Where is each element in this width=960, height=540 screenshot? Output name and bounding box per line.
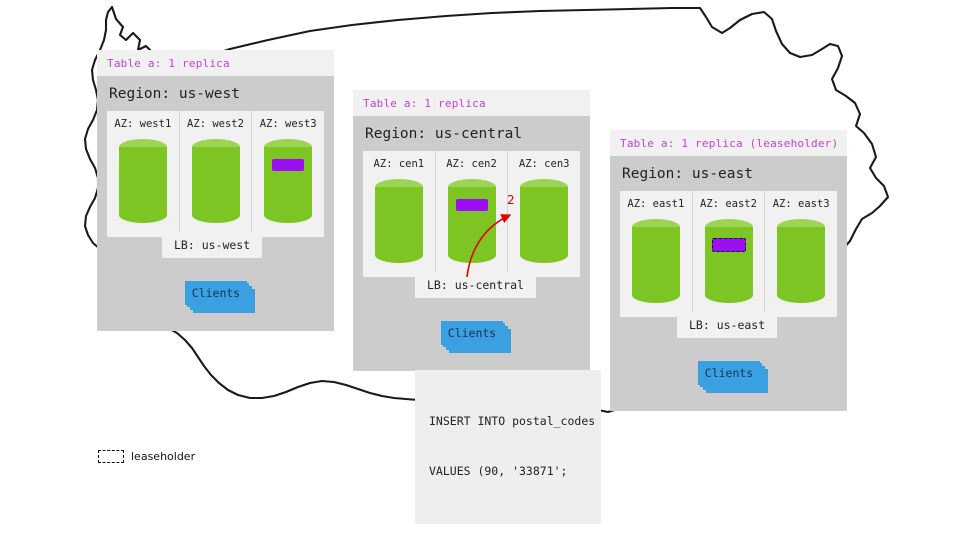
node-cylinder-cen2[interactable] [448, 179, 496, 263]
clients-button-label[interactable]: Clients [441, 321, 503, 345]
region-title-us-west: Region: us-west [107, 76, 324, 111]
az-label-cen2: AZ: cen2 [446, 158, 497, 170]
node-cylinder-east3[interactable] [777, 219, 825, 303]
load-balancer-us-central[interactable]: LB: us-central [415, 272, 536, 298]
cylinder-bottom-face [192, 207, 240, 223]
node-cylinder-west3[interactable] [264, 139, 312, 223]
az-label-east3: AZ: east3 [773, 198, 830, 210]
cylinder-body [448, 187, 496, 255]
cylinder-bottom-face [632, 287, 680, 303]
cylinder-body [777, 227, 825, 295]
panel-header-us-east: Table a: 1 replica (leaseholder) [610, 130, 847, 156]
cylinder-bottom-face [520, 247, 568, 263]
az-label-cen1: AZ: cen1 [374, 158, 425, 170]
cylinder-bottom-face [119, 207, 167, 223]
az-card-east2[interactable]: AZ: east2 [693, 191, 766, 317]
cylinder-body [192, 147, 240, 215]
cylinder-body [520, 187, 568, 255]
panel-header-us-west: Table a: 1 replica [97, 50, 334, 76]
az-card-cen3[interactable]: AZ: cen3 [508, 151, 580, 277]
az-label-west3: AZ: west3 [260, 118, 317, 130]
cylinder-bottom-face [705, 287, 753, 303]
region-title-us-central: Region: us-central [363, 116, 580, 151]
az-label-west1: AZ: west1 [114, 118, 171, 130]
node-cylinder-west1[interactable] [119, 139, 167, 223]
legend: leaseholder [98, 450, 195, 463]
region-panel-us-east: Table a: 1 replica (leaseholder) Region:… [610, 130, 847, 411]
node-cylinder-cen1[interactable] [375, 179, 423, 263]
cylinder-bottom-face [264, 207, 312, 223]
diagram-canvas: Table a: 1 replica Region: us-west AZ: w… [0, 0, 960, 540]
cylinder-body [119, 147, 167, 215]
legend-label: leaseholder [131, 450, 195, 463]
region-title-us-east: Region: us-east [620, 156, 837, 191]
az-label-east1: AZ: east1 [627, 198, 684, 210]
az-label-cen3: AZ: cen3 [519, 158, 570, 170]
node-cylinder-east2[interactable] [705, 219, 753, 303]
replica-block-west3[interactable] [272, 159, 304, 171]
sql-line-2: VALUES (90, '33871'; [429, 463, 589, 480]
az-card-cen2[interactable]: AZ: cen2 [436, 151, 509, 277]
az-row-us-east: AZ: east1 AZ: east2 [620, 191, 837, 317]
node-cylinder-west2[interactable] [192, 139, 240, 223]
clients-button-label[interactable]: Clients [698, 361, 760, 385]
clients-button-us-east[interactable]: Clients [698, 361, 760, 385]
az-row-us-central: AZ: cen1 AZ: cen2 [363, 151, 580, 277]
node-cylinder-east1[interactable] [632, 219, 680, 303]
sql-statement-box: INSERT INTO postal_codes VALUES (90, '33… [415, 370, 601, 524]
az-row-us-west: AZ: west1 AZ: west2 [107, 111, 324, 237]
sql-line-1: INSERT INTO postal_codes [429, 413, 589, 430]
cylinder-bottom-face [448, 247, 496, 263]
replica-block-east2-leaseholder[interactable] [712, 238, 746, 252]
cylinder-bottom-face [375, 247, 423, 263]
panel-header-us-central: Table a: 1 replica [353, 90, 590, 116]
az-card-east1[interactable]: AZ: east1 [620, 191, 693, 317]
clients-button-us-central[interactable]: Clients [441, 321, 503, 345]
arrow-step-label: 2 [507, 193, 515, 207]
load-balancer-us-west[interactable]: LB: us-west [162, 232, 262, 258]
az-card-west3[interactable]: AZ: west3 [252, 111, 324, 237]
az-card-west1[interactable]: AZ: west1 [107, 111, 180, 237]
az-label-east2: AZ: east2 [700, 198, 757, 210]
cylinder-body [264, 147, 312, 215]
az-label-west2: AZ: west2 [187, 118, 244, 130]
node-cylinder-cen3[interactable] [520, 179, 568, 263]
load-balancer-us-east[interactable]: LB: us-east [677, 312, 777, 338]
az-card-cen1[interactable]: AZ: cen1 [363, 151, 436, 277]
clients-button-us-west[interactable]: Clients [185, 281, 247, 305]
clients-button-label[interactable]: Clients [185, 281, 247, 305]
replica-block-cen2[interactable] [456, 199, 488, 211]
leaseholder-swatch-icon [98, 450, 124, 463]
cylinder-bottom-face [777, 287, 825, 303]
cylinder-body [375, 187, 423, 255]
az-card-east3[interactable]: AZ: east3 [765, 191, 837, 317]
region-panel-us-west: Table a: 1 replica Region: us-west AZ: w… [97, 50, 334, 331]
region-panel-us-central: Table a: 1 replica Region: us-central AZ… [353, 90, 590, 371]
cylinder-body [632, 227, 680, 295]
az-card-west2[interactable]: AZ: west2 [180, 111, 253, 237]
